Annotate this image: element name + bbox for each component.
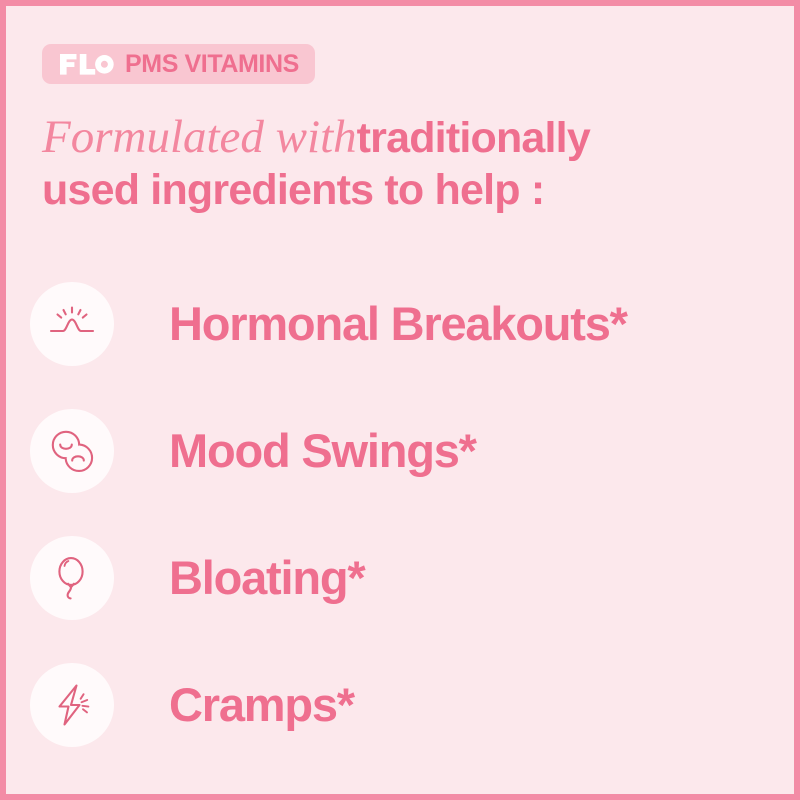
product-badge: PMS VITAMINS — [42, 44, 315, 84]
list-item: Hormonal Breakouts* — [30, 260, 790, 387]
pimple-breakout-icon — [30, 282, 114, 366]
lightning-bolt-icon — [30, 663, 114, 747]
benefit-label: Cramps* — [169, 677, 354, 732]
list-item: Cramps* — [30, 641, 790, 768]
heading-bold-text-2: used ingredients to help : — [42, 166, 544, 214]
mood-faces-icon — [30, 409, 114, 493]
benefits-list: Hormonal Breakouts* Mood Swings* — [30, 260, 790, 768]
heading-bold-text-1: traditionally — [357, 114, 590, 162]
list-item: Mood Swings* — [30, 387, 790, 514]
promo-card: PMS VITAMINS Formulated withtraditionall… — [6, 6, 794, 794]
list-item: Bloating* — [30, 514, 790, 641]
heading-line-2: used ingredients to help : — [42, 165, 742, 216]
heading-line-1: Formulated withtraditionally — [42, 110, 742, 165]
heading-serif-text: Formulated with — [42, 111, 357, 163]
badge-label: PMS VITAMINS — [125, 52, 299, 77]
balloon-icon — [30, 536, 114, 620]
benefit-label: Bloating* — [169, 550, 364, 605]
benefit-label: Mood Swings* — [169, 423, 476, 478]
benefit-label: Hormonal Breakouts* — [169, 296, 627, 351]
flo-logo-icon — [60, 54, 114, 75]
page-title: Formulated withtraditionally used ingred… — [42, 110, 742, 216]
